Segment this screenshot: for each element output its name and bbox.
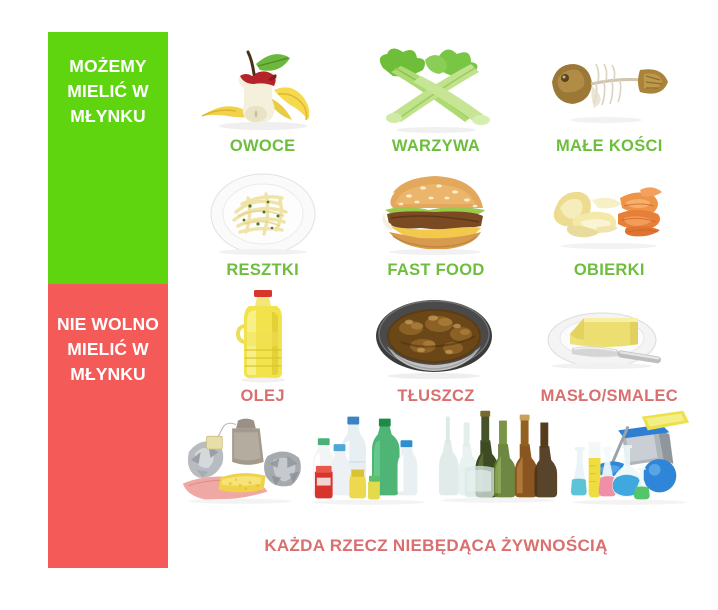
hamburger-icon xyxy=(361,162,511,257)
allowed-row-1: OWOCE xyxy=(176,30,696,156)
item-label: OLEJ xyxy=(241,387,285,406)
item-olej: OLEJ xyxy=(176,280,349,406)
forbidden-banner: NIE WOLNO MIELIĆ W MŁYNKU xyxy=(48,284,168,568)
forbidden-banner-title: NIE WOLNO MIELIĆ W MŁYNKU xyxy=(48,312,168,387)
item-resztki: RESZTKI xyxy=(176,156,349,280)
allowed-banner: MOŻEMY MIELIĆ W MŁYNKU xyxy=(48,32,168,284)
allowed-row-2: RESZTKI xyxy=(176,156,696,280)
pasta-plate-icon xyxy=(188,162,338,257)
item-fast-food: FAST FOOD xyxy=(349,156,522,280)
item-label: MAŁE KOŚCI xyxy=(556,137,663,156)
forbidden-row-1: OLEJ xyxy=(176,280,696,406)
item-label: MASŁO/SMALEC xyxy=(541,387,678,406)
glass-bottles-icon xyxy=(437,406,565,506)
oil-bottle-icon xyxy=(188,288,338,383)
fish-skeleton-icon xyxy=(534,38,684,133)
item-label: OWOCE xyxy=(230,137,296,156)
apple-core-banana-peel-icon xyxy=(188,38,338,133)
item-glass-waste xyxy=(436,406,566,526)
item-label: TŁUSZCZ xyxy=(397,387,474,406)
allowed-banner-title: MOŻEMY MIELIĆ W MŁYNKU xyxy=(48,54,168,129)
item-label: WARZYWA xyxy=(392,137,480,156)
content-grid: OWOCE xyxy=(176,30,696,570)
item-maslo-smalec: MASŁO/SMALEC xyxy=(523,280,696,406)
item-label: FAST FOOD xyxy=(387,261,484,280)
teabag-sponge-foil-icon xyxy=(177,406,305,506)
forbidden-row-2 xyxy=(176,406,696,526)
item-male-kosci: MAŁE KOŚCI xyxy=(523,30,696,156)
item-household-waste xyxy=(176,406,306,526)
plastic-bottles-icon xyxy=(307,406,435,506)
bottom-caption: KAŻDA RZECZ NIEBĘDĄCA ŻYWNOŚCIĄ xyxy=(176,536,696,556)
item-chemicals-waste xyxy=(566,406,696,526)
item-label: OBIERKI xyxy=(574,261,645,280)
vegetable-peelings-icon xyxy=(534,162,684,257)
banner-column: MOŻEMY MIELIĆ W MŁYNKU NIE WOLNO MIELIĆ … xyxy=(48,32,168,568)
chemicals-cleaning-cart-icon xyxy=(567,406,695,506)
item-tluszcz: TŁUSZCZ xyxy=(349,280,522,406)
item-obierki: OBIERKI xyxy=(523,156,696,280)
celery-stalks-icon xyxy=(361,38,511,133)
recycling-infographic: MOŻEMY MIELIĆ W MŁYNKU NIE WOLNO MIELIĆ … xyxy=(0,0,718,610)
item-warzywa: WARZYWA xyxy=(349,30,522,156)
item-plastic-waste xyxy=(306,406,436,526)
item-owoce: OWOCE xyxy=(176,30,349,156)
butter-plate-knife-icon xyxy=(534,288,684,383)
item-label: RESZTKI xyxy=(226,261,299,280)
frying-pan-fat-icon xyxy=(361,288,511,383)
